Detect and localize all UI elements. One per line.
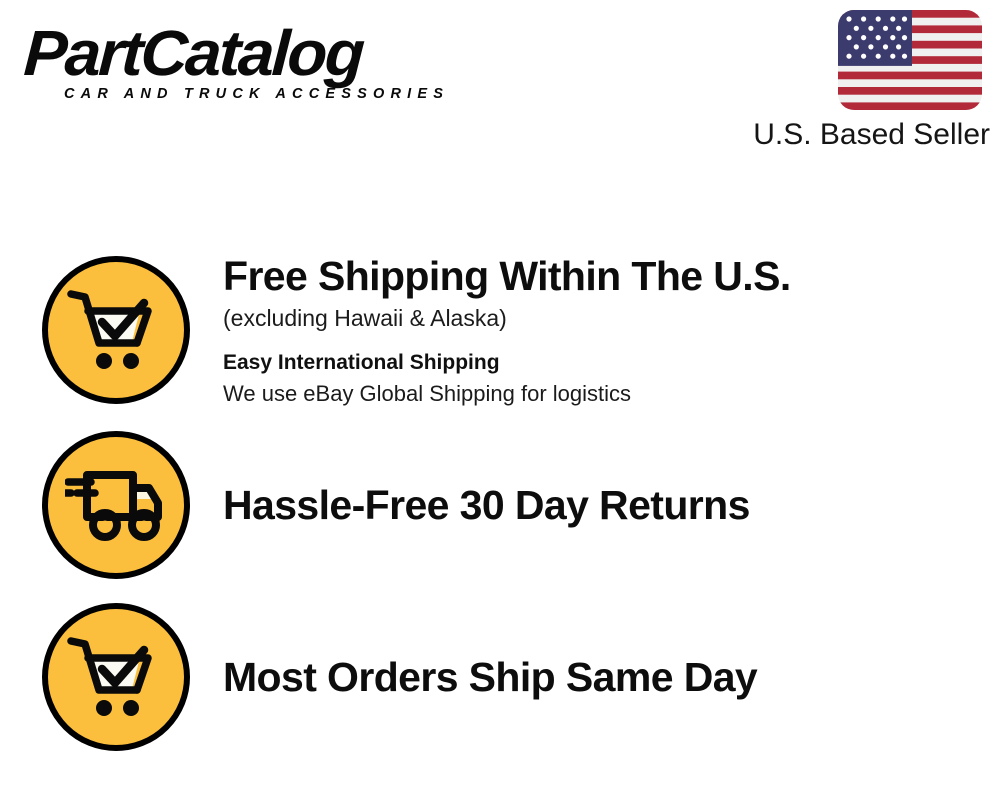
brand-wordmark: PartCatalog [22,18,505,88]
feature-row: Hassle-Free 30 Day Returns [0,420,1000,590]
feature-subtitle: (excluding Hawaii & Alaska) [223,302,980,334]
us-based-seller-label: U.S. Based Seller [722,118,992,152]
feature-title: Free Shipping Within The U.S. [223,252,980,300]
feature-row: Free Shipping Within The U.S. (excluding… [0,245,1000,415]
us-based-seller-badge: U.S. Based Seller [722,8,992,152]
page-header: PartCatalog CAR AND TRUCK ACCESSORIES [0,0,1000,170]
feature-text: Free Shipping Within The U.S. (excluding… [223,252,1000,409]
shopping-cart-check-icon [42,603,190,751]
feature-title: Most Orders Ship Same Day [223,653,980,701]
feature-row: Most Orders Ship Same Day [0,593,1000,761]
feature-secondary-subtitle: We use eBay Global Shipping for logistic… [223,378,980,409]
delivery-truck-icon [42,431,190,579]
feature-text: Hassle-Free 30 Day Returns [223,481,1000,529]
us-flag-icon [836,8,984,112]
feature-text: Most Orders Ship Same Day [223,653,1000,701]
feature-secondary-title: Easy International Shipping [223,348,980,378]
shopping-cart-check-icon [42,256,190,404]
partcatalog-logo[interactable]: PartCatalog CAR AND TRUCK ACCESSORIES [24,18,494,118]
feature-title: Hassle-Free 30 Day Returns [223,481,980,529]
